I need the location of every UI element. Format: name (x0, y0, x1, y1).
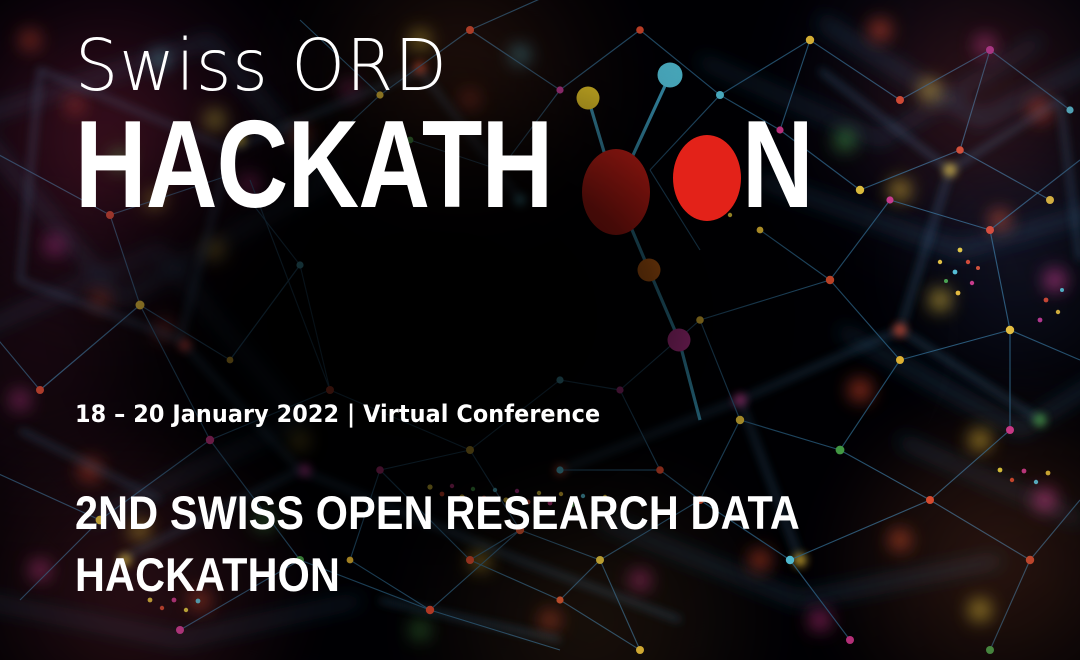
headline-line-1: 2ND SWISS OPEN RESEARCH DATA (75, 482, 800, 544)
logo-swiss-ord-text: Swiss ORD (75, 30, 800, 101)
event-date-and-format: 18 – 20 January 2022 | Virtual Conferenc… (75, 401, 600, 427)
conference-banner: Swiss ORD HACKATHN 18 – 20 January 2022 … (0, 0, 1080, 660)
logo-hackathon-part-before-dot: HACKATH (75, 115, 552, 215)
red-circle-letter-o (673, 135, 741, 221)
banner-content: Swiss ORD HACKATHN 18 – 20 January 2022 … (0, 0, 1080, 660)
event-headline: 2ND SWISS OPEN RESEARCH DATA HACKATHON (75, 482, 800, 606)
logo-hackathon-wordmark: HACKATHN (75, 115, 830, 215)
logo-hackathon-part-after-dot: N (742, 115, 813, 215)
event-logo: Swiss ORD HACKATHN (75, 30, 830, 215)
headline-line-2: HACKATHON (75, 544, 800, 606)
